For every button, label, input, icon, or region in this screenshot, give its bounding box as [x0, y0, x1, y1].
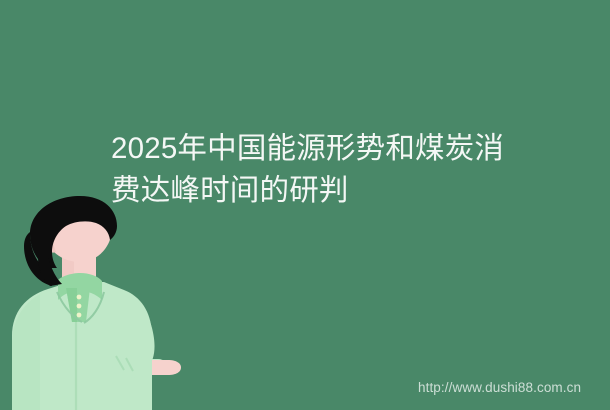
article-cover-card: 2025年中国能源形势和煤炭消 费达峰时间的研判 http://www.dush…: [0, 0, 610, 410]
person-back-view-illustration: [0, 196, 200, 410]
collar-button: [77, 304, 82, 309]
collar-button: [77, 313, 82, 318]
collar-button: [77, 295, 82, 300]
source-watermark: http://www.dushi88.com.cn: [418, 380, 581, 396]
hand-shape: [152, 360, 181, 375]
page-title: 2025年中国能源形势和煤炭消 费达峰时间的研判: [111, 128, 541, 212]
